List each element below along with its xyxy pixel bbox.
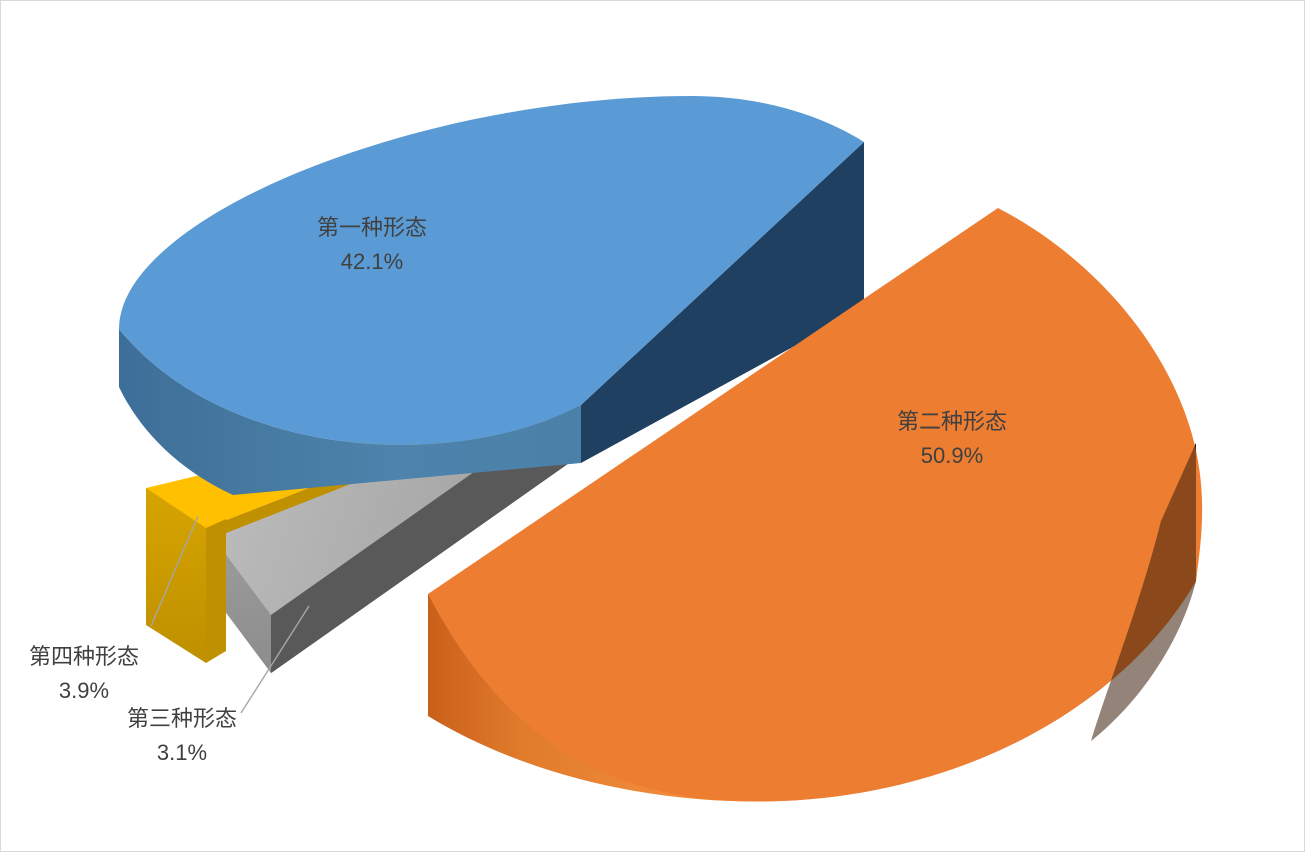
data-label-slice-4-percent: 3.9% [59, 678, 109, 703]
pie-slice-4-front-face [206, 519, 226, 663]
data-label-slice-3-name: 第三种形态 [127, 706, 237, 731]
chart-canvas: 第一种形态 42.1% 第二种形态 50.9% 第三种形态 3.1% 第四种形态… [0, 0, 1305, 852]
data-label-slice-3: 第三种形态 3.1% [127, 706, 237, 765]
data-label-slice-2-percent: 50.9% [921, 443, 983, 468]
data-label-slice-3-percent: 3.1% [157, 740, 207, 765]
data-label-slice-4-name: 第四种形态 [29, 644, 139, 669]
data-label-slice-2-name: 第二种形态 [897, 409, 1007, 434]
pie-chart-3d: 第一种形态 42.1% 第二种形态 50.9% 第三种形态 3.1% 第四种形态… [1, 1, 1305, 853]
data-label-slice-1-percent: 42.1% [341, 249, 403, 274]
data-label-slice-4: 第四种形态 3.9% [29, 644, 139, 703]
data-label-slice-1-name: 第一种形态 [317, 215, 427, 240]
